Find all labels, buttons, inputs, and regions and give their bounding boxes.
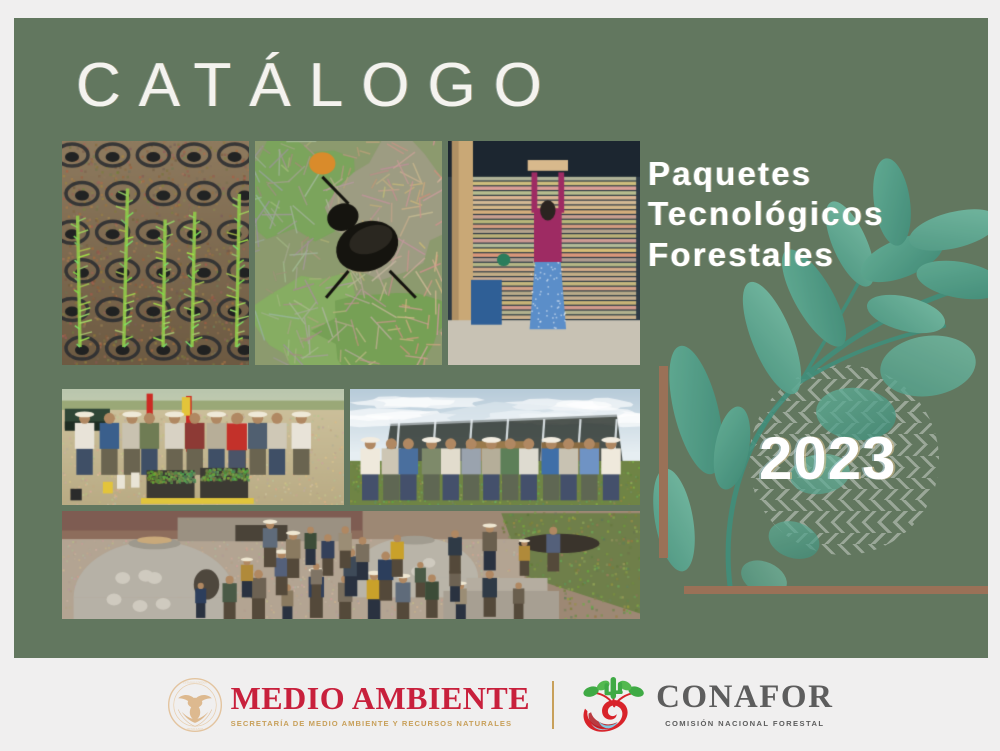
brown-horizontal-bar (684, 586, 988, 594)
cover-page: CATÁLOGO Paquetes Tecnológicos Forestale… (0, 0, 1000, 751)
cover-subtitle: Paquetes Tecnológicos Forestales (648, 154, 988, 275)
collage-photo-field-group (62, 389, 344, 505)
conafor-name: CONAFOR (656, 681, 833, 714)
collage-photo-greenhouse (350, 389, 640, 505)
subtitle-line-3: Forestales (648, 235, 988, 275)
semarnat-tagline: SECRETARÍA DE MEDIO AMBIENTE Y RECURSOS … (231, 719, 530, 728)
cover-panel: CATÁLOGO Paquetes Tecnológicos Forestale… (14, 18, 988, 658)
semarnat-logo: ESTADOS UNIDOS MEXICANOS MEDIO AMBIENTE … (167, 677, 530, 733)
footer-logo-bar: ESTADOS UNIDOS MEXICANOS MEDIO AMBIENTE … (0, 658, 1000, 751)
semarnat-wordmark: MEDIO AMBIENTE SECRETARÍA DE MEDIO AMBIE… (231, 682, 530, 728)
logo-divider (552, 681, 554, 729)
svg-text:MEXICANOS: MEXICANOS (186, 728, 203, 731)
conafor-tagline: COMISIÓN NACIONAL FORESTAL (656, 719, 833, 728)
mexico-coat-of-arms-seal: ESTADOS UNIDOS MEXICANOS (167, 677, 223, 733)
collage-photo-seedlings (62, 141, 249, 365)
conafor-plant-mark (576, 677, 650, 733)
collage-photo-agave-pest (255, 141, 442, 365)
semarnat-name: MEDIO AMBIENTE (231, 682, 530, 714)
svg-text:ESTADOS UNIDOS: ESTADOS UNIDOS (183, 681, 207, 684)
subtitle-line-2: Tecnológicos (648, 194, 988, 234)
collage-photo-kilns (62, 511, 640, 619)
photo-collage (62, 141, 640, 619)
page-title: CATÁLOGO (76, 50, 560, 121)
collage-photo-timber (448, 141, 640, 365)
conafor-logo: CONAFOR COMISIÓN NACIONAL FORESTAL (576, 677, 833, 733)
conafor-wordmark: CONAFOR COMISIÓN NACIONAL FORESTAL (656, 681, 833, 728)
subtitle-line-1: Paquetes (648, 154, 988, 194)
brown-vertical-bar (659, 366, 668, 558)
cover-year: 2023 (759, 424, 896, 493)
